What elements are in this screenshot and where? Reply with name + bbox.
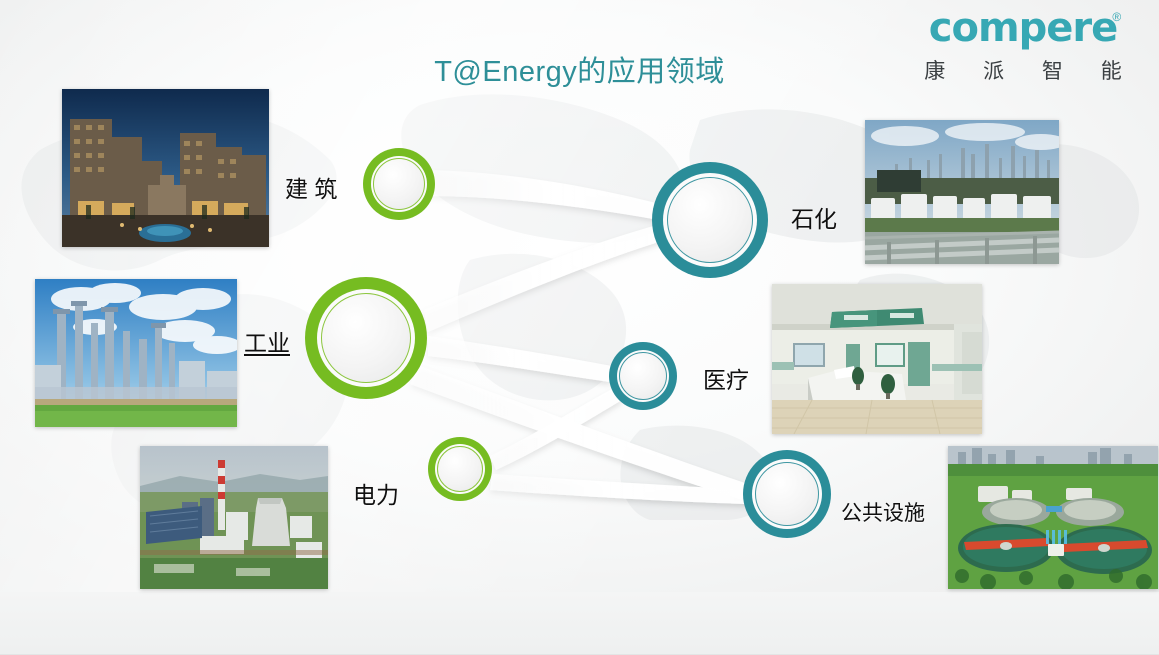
label-medical: 医疗 (703, 361, 749, 395)
node-ring-gap (435, 444, 485, 494)
label-petrochem: 石化 (791, 200, 837, 234)
node-inner-face (373, 158, 425, 210)
node-outer-ring (652, 162, 768, 278)
label-power: 电力 (353, 476, 399, 510)
node-inner-face (755, 462, 819, 526)
node-ring-gap (317, 289, 415, 387)
construction-photo (62, 89, 269, 247)
node-inner-face (437, 446, 483, 492)
node-outer-ring (305, 277, 427, 399)
label-construction: 建 筑 (285, 170, 337, 204)
node-construction[interactable] (363, 148, 435, 220)
node-outer-ring (428, 437, 492, 501)
medical-photo (772, 284, 982, 434)
logo-chinese-name: 康 派 智 能 (905, 55, 1141, 85)
node-public[interactable] (743, 450, 831, 538)
power-photo (140, 446, 328, 589)
logo-wordmark: compere (929, 5, 1118, 51)
node-ring-gap (663, 173, 757, 267)
node-outer-ring (609, 342, 677, 410)
node-petrochem[interactable] (652, 162, 768, 278)
node-ring-gap (617, 350, 669, 402)
node-inner-face (667, 177, 753, 263)
petrochem-photo (865, 120, 1059, 264)
slide-canvas: T@Energy的应用领域 compere ® 康 派 智 能 (0, 0, 1159, 655)
node-ring-gap (371, 156, 427, 212)
registered-trademark-icon: ® (1112, 10, 1121, 24)
node-industry[interactable] (305, 277, 427, 399)
node-outer-ring (743, 450, 831, 538)
node-inner-face (619, 352, 667, 400)
industry-photo (35, 279, 237, 427)
public-photo (948, 446, 1158, 589)
node-power[interactable] (428, 437, 492, 501)
brand-logo: compere ® 康 派 智 能 (905, 8, 1141, 85)
node-outer-ring (363, 148, 435, 220)
slide-footer-band (0, 592, 1159, 655)
label-industry: 工业 (244, 324, 290, 358)
label-public: 公共设施 (841, 497, 925, 527)
node-medical[interactable] (609, 342, 677, 410)
node-inner-face (321, 293, 411, 383)
node-ring-gap (752, 459, 822, 529)
